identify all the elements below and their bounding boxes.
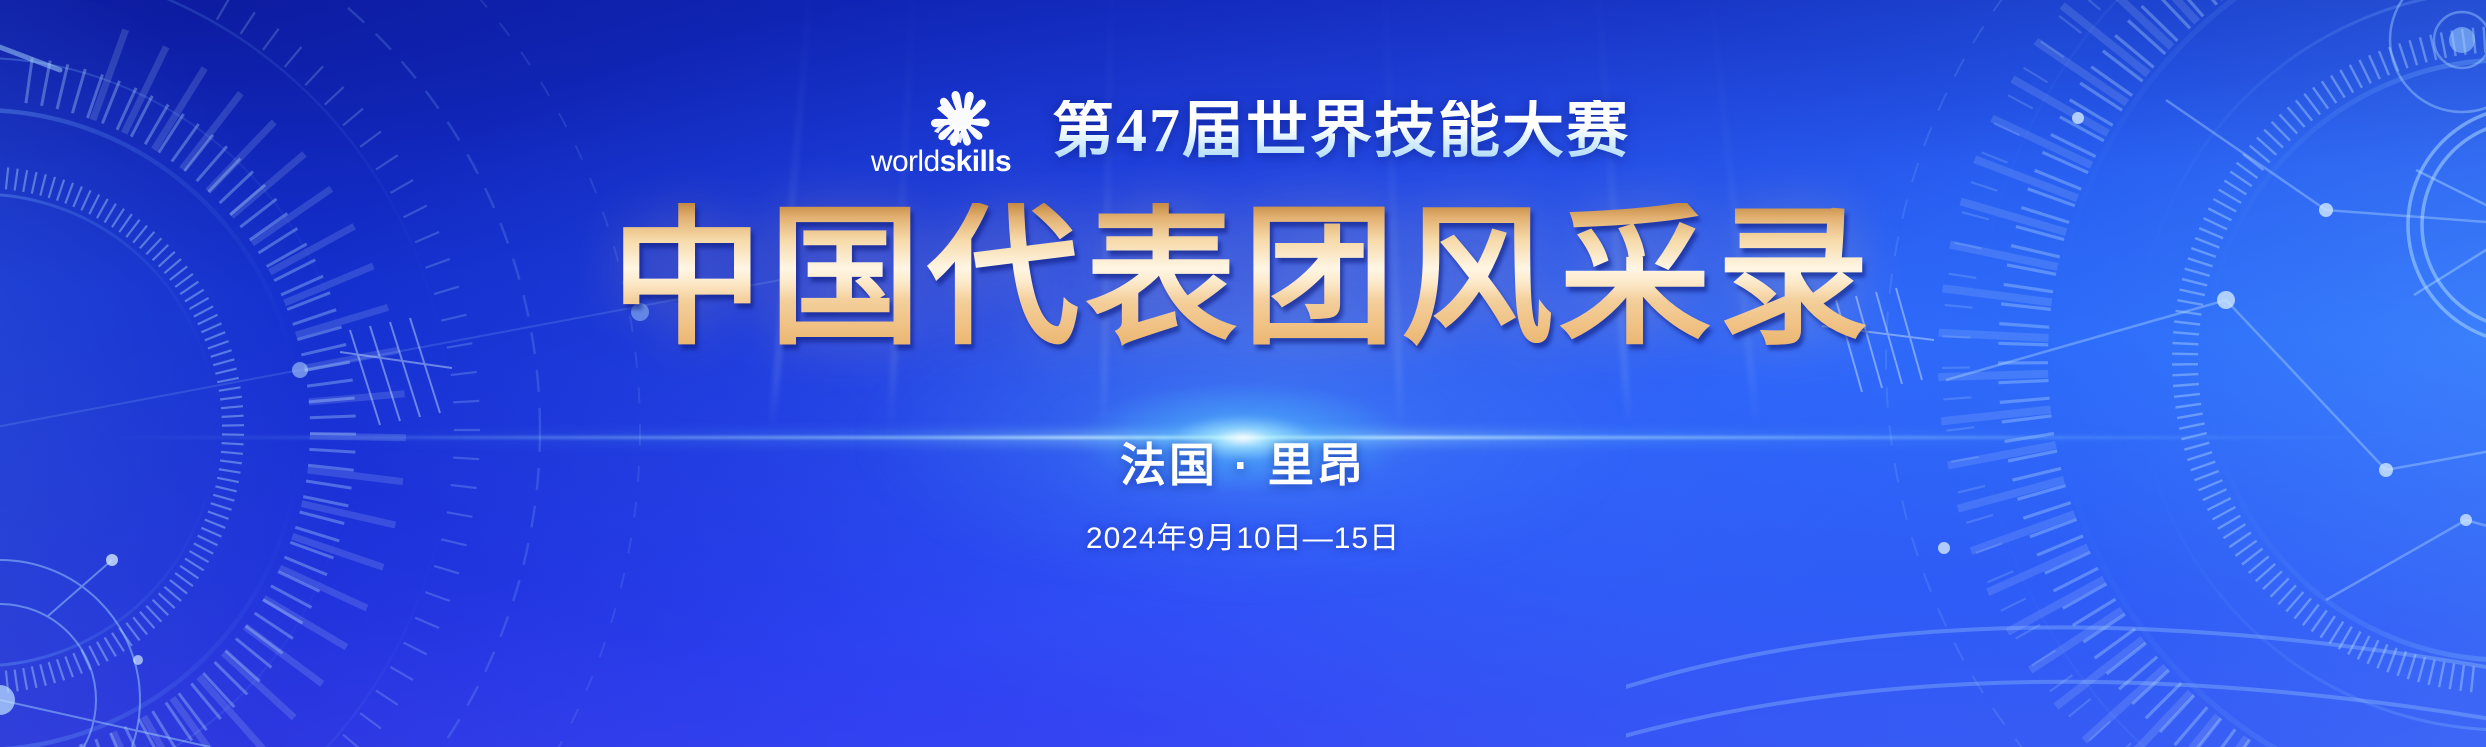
event-header-row: worldskills 第47届世界技能大赛 [856, 84, 1630, 177]
event-name: 第47届世界技能大赛 [1052, 100, 1630, 162]
worldskills-flame-hand-icon [910, 84, 1006, 146]
wordmark-world: world [871, 145, 940, 178]
wordmark-skills: skills [940, 145, 1011, 178]
worldskills-wordmark: worldskills [871, 147, 1011, 177]
venue-label: 法国 · 里昂 [1120, 429, 1366, 495]
page-title: 中国代表团风采录 [611, 203, 1875, 355]
banner-content: worldskills 第47届世界技能大赛 中国代表团风采录 法国 · 里昂 … [0, 0, 2486, 747]
event-dates: 2024年9月10日—15日 [1086, 513, 1400, 557]
worldskills-logo: worldskills [856, 84, 1026, 177]
worldskills-event-banner: worldskills 第47届世界技能大赛 中国代表团风采录 法国 · 里昂 … [0, 0, 2486, 747]
